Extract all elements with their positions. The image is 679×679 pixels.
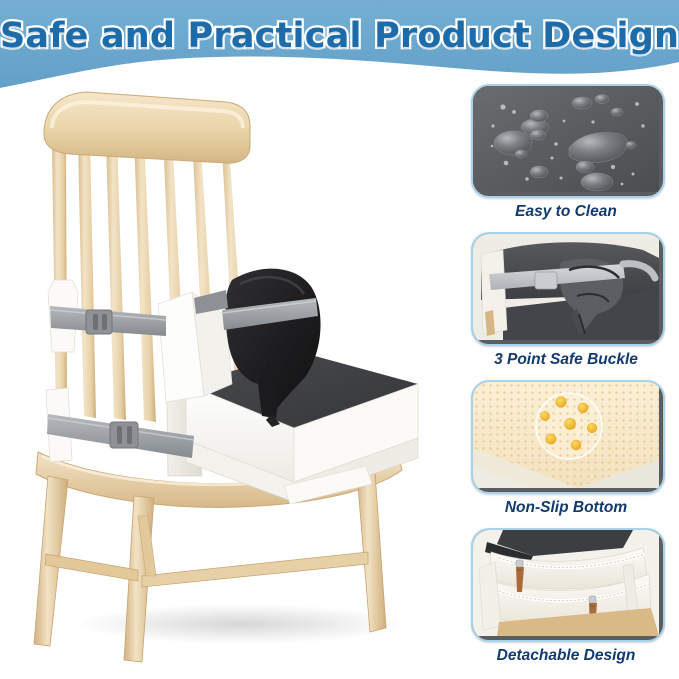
feature-label-easy-to-clean: Easy to Clean <box>471 203 661 221</box>
feature-card-three-point-safe-buckle[interactable]: 3 Point Safe Buckle <box>471 232 661 369</box>
page-title-text: Safe and Practical Product Design <box>0 16 679 56</box>
feature-card-detachable-design[interactable]: Detachable Design <box>471 528 661 665</box>
feature-card-non-slip-bottom[interactable]: Non-Slip Bottom <box>471 380 661 517</box>
harness-buckle-closeup-photo <box>473 234 659 340</box>
thumbnail-frame-three-point-safe-buckle <box>471 232 665 346</box>
page-title: Safe and Practical Product Design <box>0 16 679 56</box>
buckle-clip <box>535 272 557 289</box>
feature-label-three-point-safe-buckle: 3 Point Safe Buckle <box>471 351 661 369</box>
thumbnail-frame-detachable-design <box>471 528 665 642</box>
zipper-detachable-cover-photo <box>473 530 659 636</box>
hero-illustration <box>26 84 456 664</box>
thumbnail-frame-easy-to-clean <box>471 84 665 198</box>
non-slip-dotted-base-photo <box>473 382 659 488</box>
feature-thumbnail-column: Easy to Clean <box>471 84 661 672</box>
water-droplets-on-fabric-photo <box>473 86 659 192</box>
feature-label-detachable-design: Detachable Design <box>471 647 661 665</box>
lower-buckle <box>110 422 138 448</box>
thumbnail-frame-non-slip-bottom <box>471 380 665 494</box>
feature-card-easy-to-clean[interactable]: Easy to Clean <box>471 84 661 221</box>
hero-product-image <box>26 84 456 664</box>
chair-top-rail <box>44 92 250 163</box>
upper-buckle <box>86 310 112 334</box>
infographic-page: Safe and Practical Product Design <box>0 0 679 679</box>
feature-label-non-slip-bottom: Non-Slip Bottom <box>471 499 661 517</box>
